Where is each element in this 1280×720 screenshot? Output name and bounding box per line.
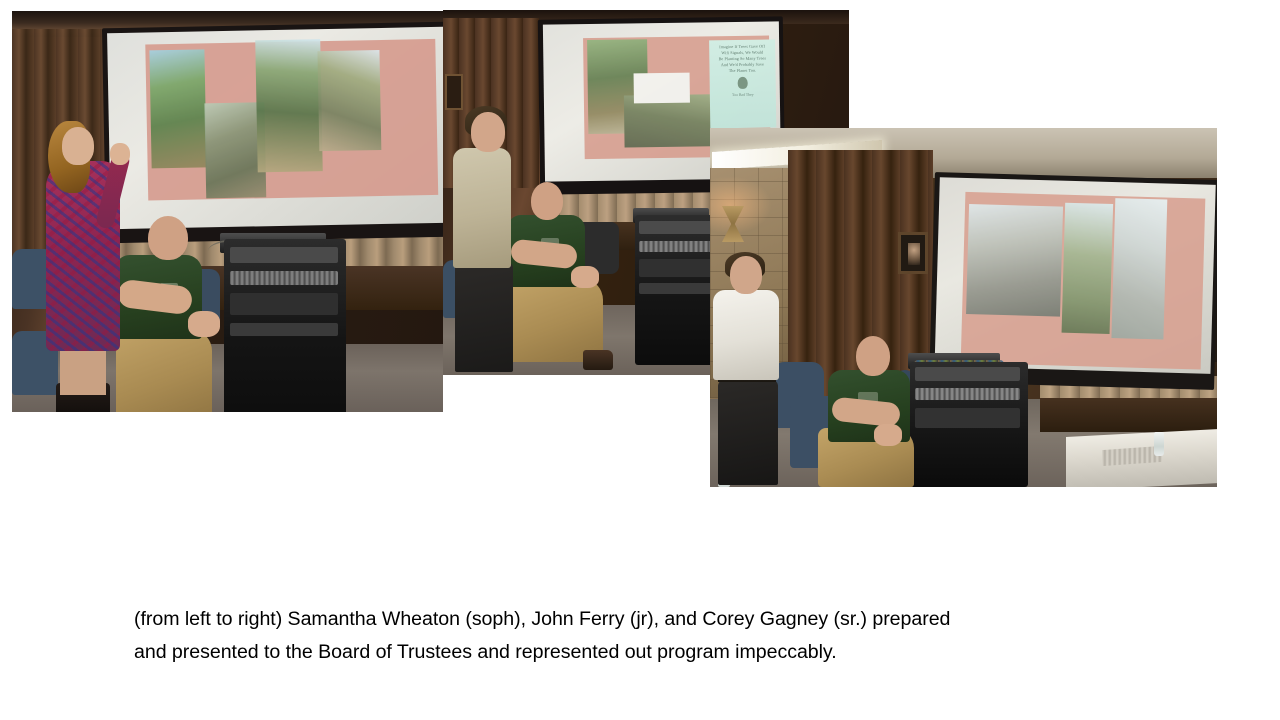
standing-presenter-head [62,127,94,165]
seated-presenter-legs [116,329,212,412]
standing-presenter-pants [455,262,513,372]
seated-presenter-shoe [583,350,613,370]
portrait-subject [908,243,920,265]
projected-quote-line-5: The Planet Too. [711,68,773,75]
room-scene-left [12,11,443,412]
projected-photo-4 [317,50,381,151]
seated-presenter-hands [874,424,902,446]
caption-line-2: and presented to the Board of Trustees a… [134,636,1069,669]
av-cart [910,362,1028,487]
slide-caption: (from left to right) Samantha Wheaton (s… [134,603,1069,669]
av-device [639,259,717,277]
wall-wainscot [1040,398,1217,432]
av-device [639,283,717,294]
seated-presenter-head [148,216,188,260]
av-mixer [639,241,717,252]
projected-photo-2 [1062,203,1114,334]
projected-slide-background [145,39,438,201]
seated-presenter-hands [188,311,220,337]
av-device [230,323,338,336]
standing-presenter-pants [718,380,778,485]
sconce-glow [710,176,772,234]
photo-left[interactable] [12,11,443,412]
av-mixer [230,271,338,285]
standing-presenter-hand [110,143,130,165]
av-device [230,293,338,315]
standing-presenter-head [730,256,762,294]
projected-photo-3 [255,39,323,172]
projected-photo-1 [149,49,206,168]
seated-presenter-head [856,336,890,376]
av-device [230,247,338,263]
av-mixer [915,388,1020,400]
seated-presenter-head [531,182,563,220]
standing-presenter-shirt [453,148,511,268]
av-device [915,367,1020,381]
av-cart [224,239,346,412]
projection-screen-surface [107,27,443,229]
standing-presenter-shirt [713,290,779,380]
water-bottle [1154,432,1164,456]
room-scene-right [710,128,1217,487]
av-device [915,408,1020,428]
seated-presenter-hands [571,266,599,288]
av-cart [635,215,721,365]
caption-line-1: (from left to right) Samantha Wheaton (s… [134,603,1069,636]
framed-picture [445,74,463,110]
tree-icon [738,77,748,89]
projected-quote-footer: Too Bad They [732,93,754,97]
standing-presenter-head [471,112,505,152]
projected-photo-highlight [634,73,690,104]
framed-portrait [898,232,928,274]
presentation-slide: Imagine If Trees Gave Off Wifi Signals, … [0,0,1280,720]
av-device [639,221,717,234]
projected-photo-3 [1111,198,1167,339]
projected-photo-1 [966,204,1063,317]
projection-screen [102,22,443,244]
projected-quote-card: Imagine If Trees Gave Off Wifi Signals, … [709,39,776,128]
photo-right[interactable] [710,128,1217,487]
projected-slide-background [961,192,1206,370]
projection-screen-surface [935,177,1216,374]
